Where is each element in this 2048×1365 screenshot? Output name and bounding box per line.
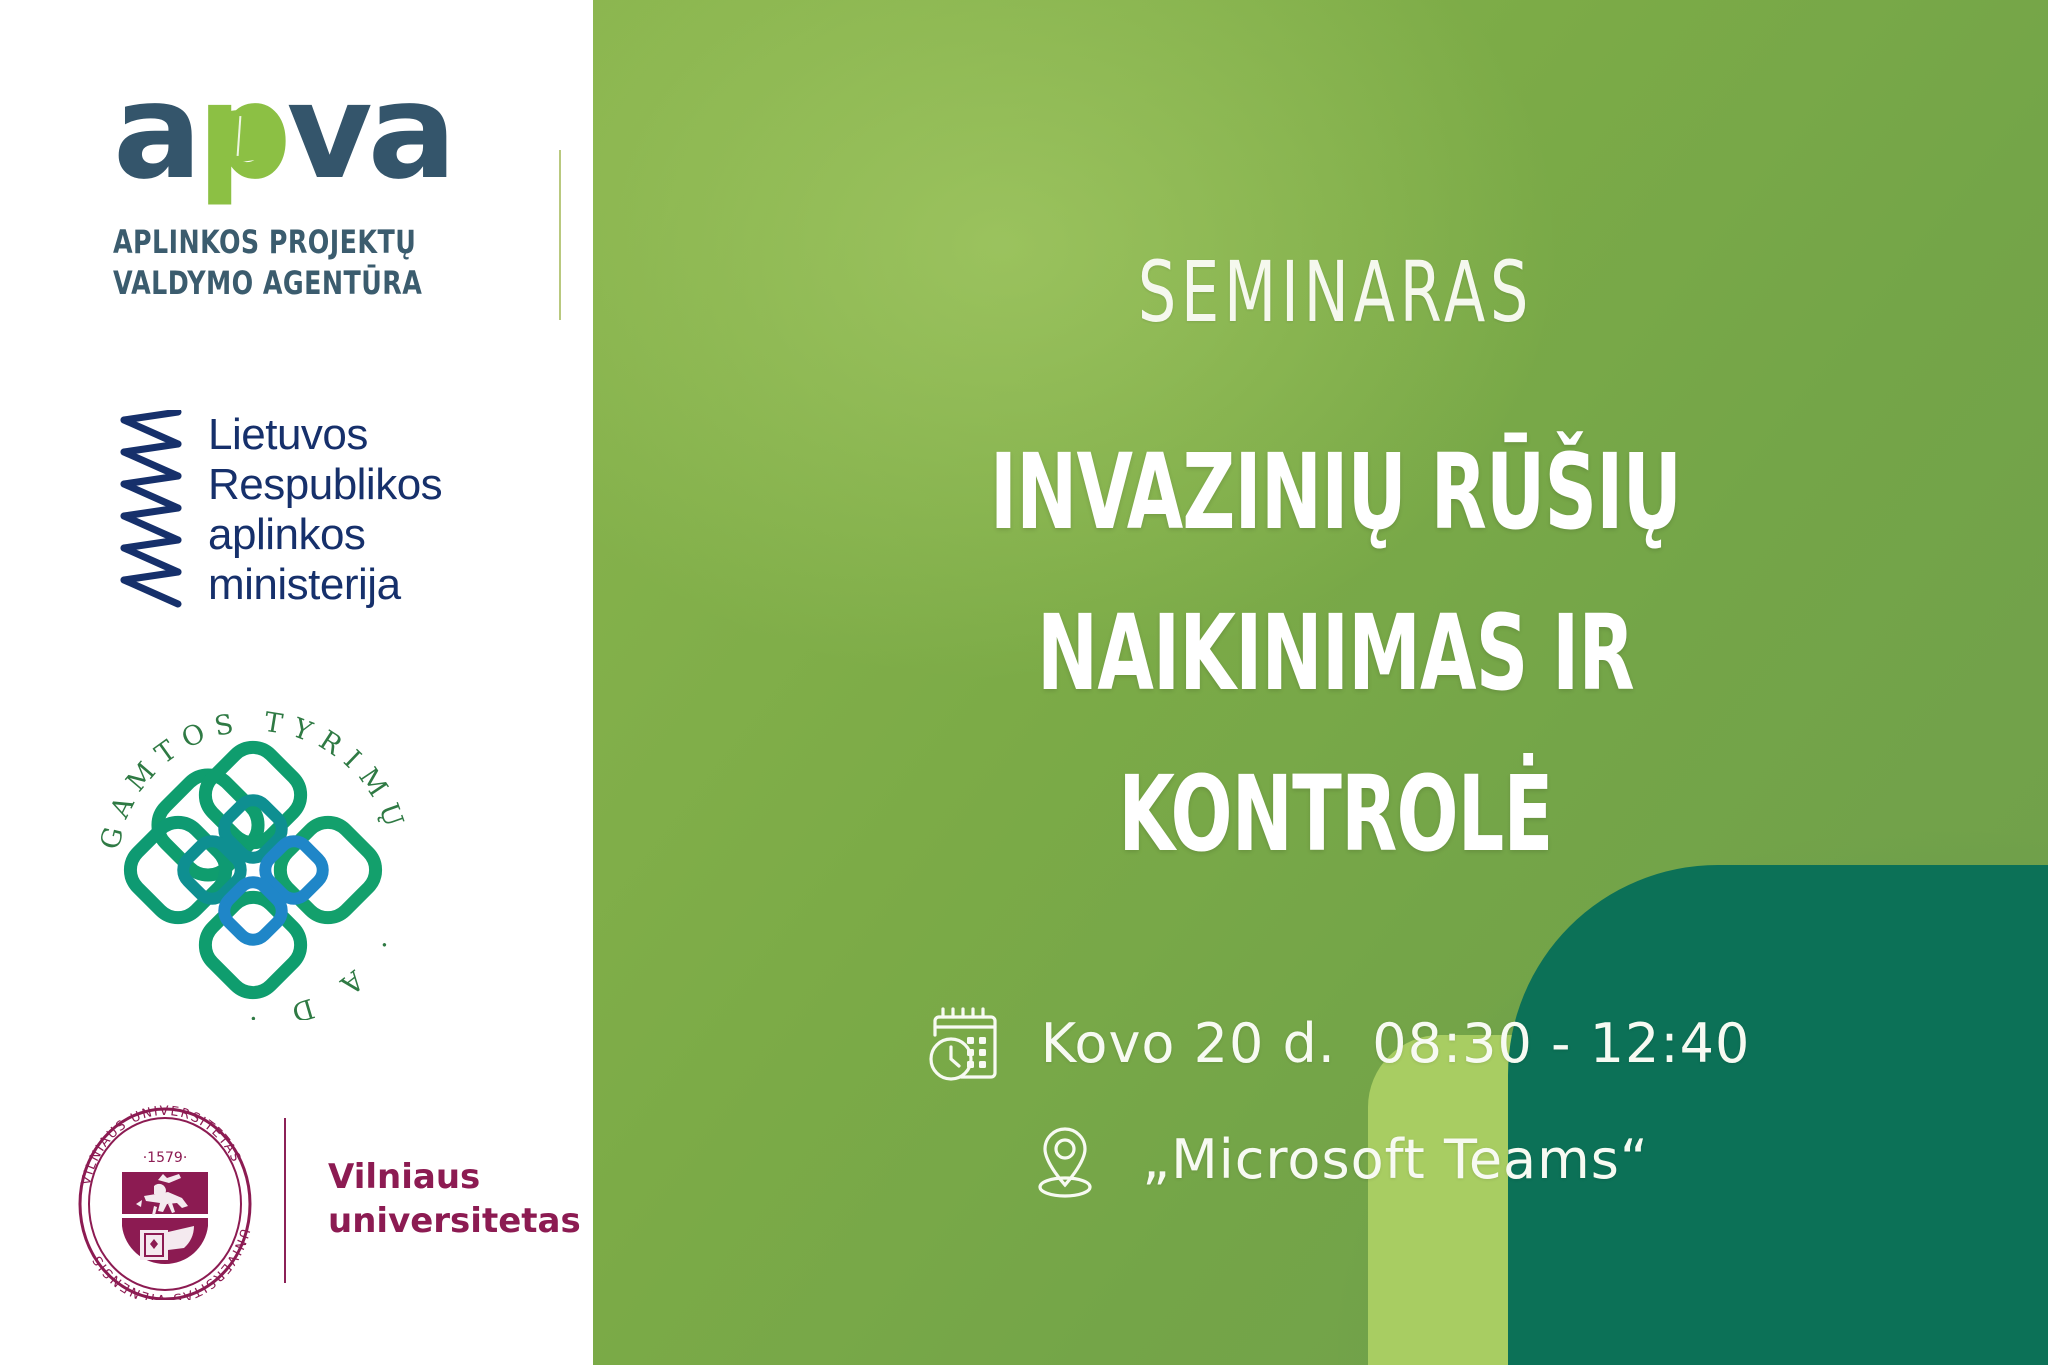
apva-subtitle-line2: VALDYMO AGENTŪRA — [113, 263, 465, 304]
ministry-wave-mark — [120, 410, 186, 610]
event-kicker: SEMINARAS — [838, 250, 1834, 334]
event-title-line1: INVAZINIŲ RŪŠIŲ NAIKINIMAS IR — [850, 412, 1821, 734]
event-title: INVAZINIŲ RŪŠIŲ NAIKINIMAS IR KONTROLĖ — [850, 412, 1821, 896]
ministry-line1: Lietuvos — [208, 410, 442, 460]
location-pin-icon — [1022, 1117, 1108, 1203]
vu-divider — [284, 1118, 286, 1283]
svg-text:· A D ·: · A D · — [236, 932, 399, 1020]
event-location-row: „Microsoft Teams“ — [1022, 1117, 1649, 1203]
apva-subtitle-line1: APLINKOS PROJEKTŲ — [113, 222, 465, 263]
event-location-text: „Microsoft Teams“ — [1142, 1133, 1649, 1187]
svg-text:·1579·: ·1579· — [143, 1150, 188, 1166]
ministry-line3: aplinkos — [208, 510, 442, 560]
apva-letters-va: va — [287, 72, 452, 193]
gtc-logo: GAMTOS TYRIMŲ CENTRAS · A D · — [78, 690, 428, 1020]
ministry-line4: ministerija — [208, 560, 442, 610]
seminar-poster: apva APLINKOS PROJEKTŲ VALDYMO AGENTŪRA — [0, 0, 2048, 1365]
apva-divider — [559, 150, 561, 320]
main-content: SEMINARAS INVAZINIŲ RŪŠIŲ NAIKINIMAS IR … — [593, 0, 2048, 1203]
event-title-line2: KONTROLĖ — [850, 734, 1821, 895]
event-details: Kovo 20 d. 08:30 - 12:40 „Microsoft Team… — [713, 1001, 1958, 1203]
ministry-line2: Respublikos — [208, 460, 442, 510]
svg-text:GAMTOS TYRIMŲ CENTRAS: GAMTOS TYRIMŲ CENTRAS — [78, 690, 416, 858]
apva-logo: apva APLINKOS PROJEKTŲ VALDYMO AGENTŪRA — [113, 72, 513, 304]
ministry-logo: Lietuvos Respublikos aplinkos ministerij… — [120, 410, 442, 611]
event-datetime-row: Kovo 20 d. 08:30 - 12:40 — [921, 1001, 1751, 1087]
apva-wordmark: apva — [113, 72, 513, 202]
apva-subtitle: APLINKOS PROJEKTŲ VALDYMO AGENTŪRA — [113, 222, 465, 304]
vu-logo: VILNIAUS UNIVERSITETAS UNIVERSITAS VILNE… — [70, 1100, 581, 1300]
vu-name-line2: universitetas — [328, 1200, 581, 1244]
main-panel: SEMINARAS INVAZINIŲ RŪŠIŲ NAIKINIMAS IR … — [593, 0, 2048, 1365]
logo-panel: apva APLINKOS PROJEKTŲ VALDYMO AGENTŪRA — [0, 0, 593, 1365]
vu-seal-icon: VILNIAUS UNIVERSITETAS UNIVERSITAS VILNE… — [70, 1100, 260, 1300]
calendar-clock-icon — [921, 1001, 1007, 1087]
apva-letter-a: a — [113, 72, 197, 193]
vu-name-line1: Vilniaus — [328, 1156, 581, 1200]
ministry-name: Lietuvos Respublikos aplinkos ministerij… — [208, 410, 442, 611]
gtc-emblem-icon: GAMTOS TYRIMŲ CENTRAS · A D · — [78, 690, 428, 1020]
event-datetime-text: Kovo 20 d. 08:30 - 12:40 — [1041, 1017, 1751, 1071]
vu-name: Vilniaus universitetas — [328, 1156, 581, 1243]
